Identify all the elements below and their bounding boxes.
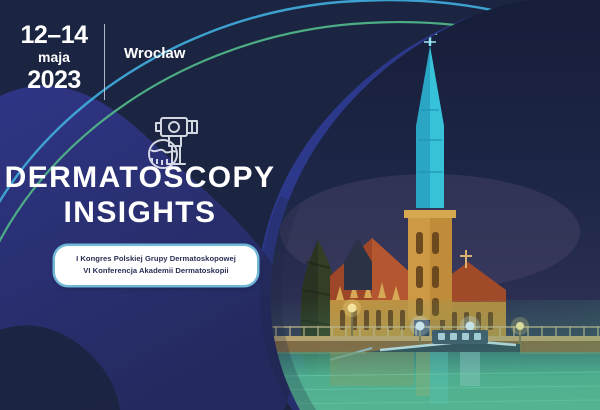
subtitle-line-1: I Kongres Polskiej Grupy Dermatoskopowej (63, 253, 249, 265)
subtitle-line-2: VI Konferencja Akademii Dermatoskopii (63, 265, 249, 277)
city-label: Wrocław (124, 45, 185, 100)
date-location-block: 12–14 maja 2023 Wrocław (18, 22, 185, 100)
conference-banner: 12–14 maja 2023 Wrocław DERMATOSCOPY INS… (0, 0, 600, 410)
date-month: maja (38, 48, 70, 67)
subtitle-pill: I Kongres Polskiej Grupy Dermatoskopowej… (55, 246, 257, 285)
vertical-divider (104, 24, 105, 100)
date-range: 12–14 (20, 22, 87, 48)
title-line-1: DERMATOSCOPY (0, 160, 280, 195)
page-title: DERMATOSCOPY INSIGHTS (0, 160, 280, 231)
text-column: 12–14 maja 2023 Wrocław DERMATOSCOPY INS… (0, 0, 300, 410)
date-year: 2023 (27, 67, 81, 95)
title-line-2: INSIGHTS (0, 195, 280, 230)
date-stack: 12–14 maja 2023 (18, 22, 90, 100)
